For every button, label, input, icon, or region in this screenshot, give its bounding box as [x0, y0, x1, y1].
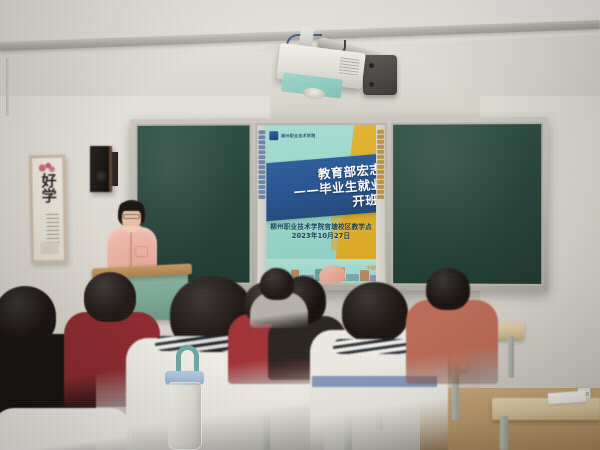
board-assembly: 柳州职业技术学院 教育部宏志助航计划 ——毕业生就业能力提升培训 开班仪式 柳州…	[131, 117, 549, 291]
smartboard-tool-icon[interactable]	[258, 130, 265, 134]
slide-subtitle-date: 2023年10月27日	[257, 232, 385, 241]
smartboard-tool-icon[interactable]	[258, 155, 265, 159]
smartboard-tool-icon[interactable]	[377, 135, 384, 139]
smartboard-tool-icon[interactable]	[258, 135, 265, 139]
smartboard-tool-icon[interactable]	[258, 160, 265, 164]
speaker-cone-icon	[95, 170, 107, 182]
student-head	[0, 286, 56, 346]
student-head	[342, 282, 408, 342]
projector-ceiling-mount	[363, 55, 397, 95]
smartboard-tool-icon[interactable]	[377, 145, 384, 149]
smartboard-tool-icon[interactable]	[377, 195, 384, 199]
scroll-text: 好学	[37, 174, 60, 216]
smartboard-tool-icon[interactable]	[258, 175, 265, 179]
projector-adapter-box	[299, 27, 314, 47]
calligraphy-scroll: 好学	[29, 155, 67, 264]
smartboard-tool-icon[interactable]	[377, 190, 384, 194]
smartboard-tool-icon[interactable]	[377, 150, 384, 154]
smartboard-tool-icon[interactable]	[377, 175, 384, 179]
slide-logo-label: 柳州职业技术学院	[281, 133, 315, 139]
smartboard-tool-icon[interactable]	[258, 190, 265, 194]
student-torso	[0, 408, 132, 450]
smartboard-tool-icon[interactable]	[258, 140, 265, 144]
student-head	[260, 268, 294, 300]
smartboard-tool-icon[interactable]	[377, 140, 384, 144]
slide-subtitle-group: 柳州职业技术学院官塘校区教学点 2023年10月27日	[257, 223, 385, 241]
smartboard-tool-icon[interactable]	[258, 180, 265, 184]
smartboard-screen[interactable]: 柳州职业技术学院 教育部宏志助航计划 ——毕业生就业能力提升培训 开班仪式 柳州…	[255, 123, 387, 285]
water-bottle	[168, 382, 202, 450]
slide-logo: 柳州职业技术学院	[269, 131, 315, 140]
student-head	[426, 268, 470, 310]
smartboard-tool-icon[interactable]	[377, 155, 384, 159]
smartboard-tool-icon[interactable]	[377, 170, 384, 174]
wall-speaker	[90, 146, 112, 192]
slide-subtitle-venue: 柳州职业技术学院官塘校区教学点	[257, 223, 385, 232]
smartboard-tool-icon[interactable]	[258, 150, 265, 154]
smartboard-tool-icon[interactable]	[377, 130, 384, 134]
student-head	[84, 272, 136, 322]
slide-title-group: 教育部宏志助航计划 ——毕业生就业能力提升培训 开班仪式	[259, 145, 387, 224]
desk-leg	[500, 416, 508, 450]
student-white-shirt-front-left	[0, 408, 128, 450]
smartboard-tool-icon[interactable]	[377, 160, 384, 164]
smartboard-tool-icon[interactable]	[258, 195, 265, 199]
bottle-handle-loop	[176, 345, 199, 373]
smartboard-icon-rail-right[interactable]	[376, 125, 385, 283]
smartboard-tool-icon[interactable]	[258, 185, 265, 189]
desk-leg	[508, 336, 514, 378]
projector-vent-icon	[338, 57, 360, 75]
presenter-pocket	[135, 246, 148, 257]
skyline-building	[386, 268, 387, 281]
skyline-building	[346, 274, 359, 281]
smartboard-tool-icon[interactable]	[258, 170, 265, 174]
classroom-photo: 好学 柳州职业技术学院	[0, 0, 600, 450]
chalkboard-right	[391, 122, 543, 286]
student-torso	[406, 300, 498, 384]
rail-drop-wire	[6, 58, 9, 116]
glasses-icon	[123, 214, 140, 219]
presenter-bangs	[119, 202, 144, 211]
presentation-slide: 柳州职业技术学院 教育部宏志助航计划 ——毕业生就业能力提升培训 开班仪式 柳州…	[257, 125, 385, 283]
smartboard-icon-rail-left[interactable]	[257, 125, 266, 282]
student-grey-back-row	[250, 268, 304, 316]
school-emblem-icon	[269, 131, 278, 140]
smartboard-tool-icon[interactable]	[258, 165, 265, 169]
student-rust-shirt	[406, 268, 494, 376]
scroll-seal-icon	[41, 242, 59, 254]
smartboard-tool-icon[interactable]	[258, 145, 265, 149]
skyline-building	[360, 270, 369, 281]
smartboard-tool-icon[interactable]	[377, 185, 384, 189]
smartboard-tool-icon[interactable]	[377, 180, 384, 184]
smartboard-tool-icon[interactable]	[377, 165, 384, 169]
